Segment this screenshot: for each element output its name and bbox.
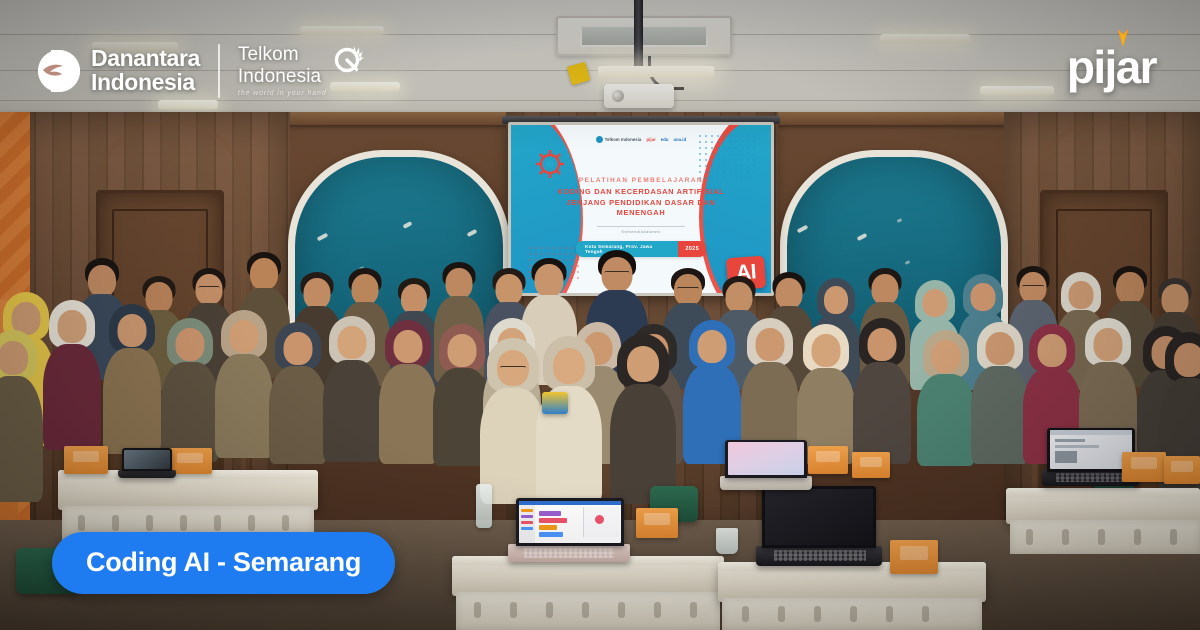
pijar-wordmark: pijar: [1067, 44, 1156, 90]
pijar-logo: pijar: [1067, 44, 1156, 90]
person: [106, 304, 158, 450]
desk: [718, 562, 986, 602]
person: [484, 338, 542, 498]
danantara-wordmark: Danantara Indonesia: [91, 47, 200, 95]
snack-box: [1164, 456, 1200, 484]
desk: [1006, 488, 1200, 524]
cup: [716, 528, 738, 554]
snack-box: [64, 446, 108, 474]
brand-bar: Danantara Indonesia Telkom Indonesia the…: [38, 44, 364, 98]
snack-box: [890, 540, 938, 574]
person: [974, 322, 1026, 460]
danantara-mark-icon: [38, 50, 80, 92]
person: [540, 336, 598, 498]
laptop[interactable]: [118, 448, 176, 478]
telkom-tagline: the world in your hand: [238, 90, 327, 98]
person: [326, 316, 378, 458]
robotics-kit-prop: [542, 392, 568, 414]
pijar-spark-icon: [1113, 25, 1133, 47]
desk-modesty-panel: [722, 598, 982, 630]
desk: [58, 470, 318, 510]
laptop-scratch[interactable]: [508, 498, 630, 562]
laptop[interactable]: [756, 486, 882, 566]
laptop[interactable]: [720, 440, 812, 490]
telkom-logo: Telkom Indonesia the world in your hand: [238, 44, 364, 97]
person: [164, 318, 216, 458]
desk-modesty-panel: [1010, 520, 1200, 554]
water-bottle: [476, 484, 492, 528]
brand-divider: [218, 44, 220, 98]
desk-modesty-panel: [456, 592, 720, 630]
person: [272, 322, 324, 460]
danantara-line1: Danantara: [91, 45, 200, 71]
person: [856, 318, 908, 460]
snack-box: [808, 446, 848, 474]
telkom-line2: Indonesia: [238, 66, 321, 87]
person: [0, 330, 40, 500]
person: [614, 334, 672, 498]
snack-box: [1122, 452, 1166, 482]
snack-box: [852, 452, 890, 478]
danantara-line2: Indonesia: [91, 69, 195, 95]
danantara-logo: Danantara Indonesia: [38, 47, 200, 95]
telkom-wordmark: Telkom Indonesia the world in your hand: [238, 44, 327, 97]
person: [218, 310, 270, 454]
desk: [452, 556, 724, 596]
person: [920, 330, 972, 462]
caption-badge: Coding AI - Semarang: [52, 532, 395, 594]
person: [744, 318, 796, 460]
telkom-line1: Telkom: [238, 44, 299, 65]
person: [46, 300, 98, 446]
person: [382, 320, 434, 460]
person: [686, 320, 738, 460]
telkom-hand-globe-icon: [334, 45, 364, 75]
snack-box: [636, 508, 678, 538]
event-photo-banner: Telkom Indonesia pijar edu ana.id PELATI…: [0, 0, 1200, 630]
